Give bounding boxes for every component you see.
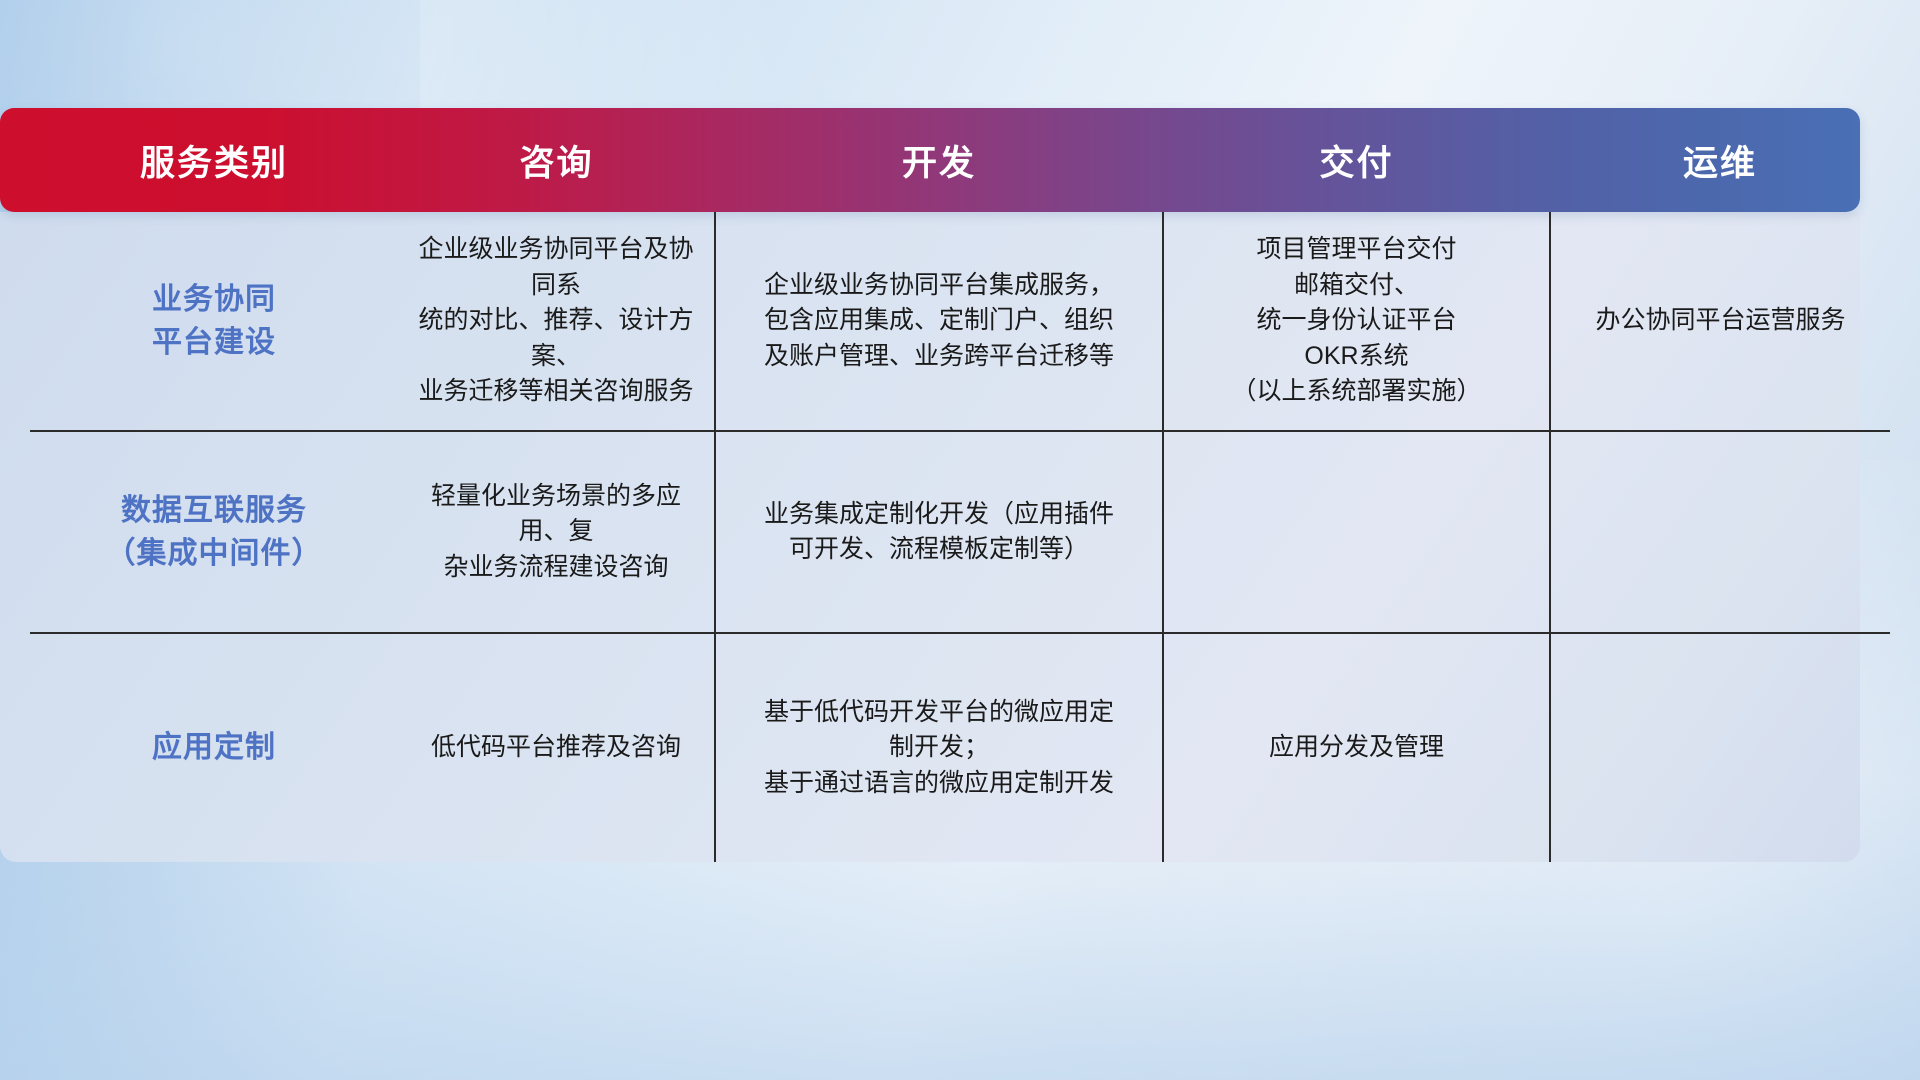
column-header-category: 服务类别 xyxy=(30,108,398,212)
cell-category: 应用定制 xyxy=(30,633,398,862)
cell-text: 轻量化业务场景的多应用、复 杂业务流程建设咨询 xyxy=(412,479,700,586)
cell-delivery: 项目管理平台交付 邮箱交付、 统一身份认证平台 OKR系统 （以上系统部署实施） xyxy=(1163,212,1550,431)
cell-text: 业务集成定制化开发（应用插件 可开发、流程模板定制等） xyxy=(730,497,1148,568)
cell-category: 数据互联服务 （集成中间件） xyxy=(30,431,398,633)
slide-canvas: 服务类别 咨询 开发 交付 运维 业务协同 平台建设 企业级业务协同平台及协同系… xyxy=(0,0,1920,1080)
table-body: 业务协同 平台建设 企业级业务协同平台及协同系 统的对比、推荐、设计方案、 业务… xyxy=(30,212,1890,862)
cell-category: 业务协同 平台建设 xyxy=(30,212,398,431)
table-row: 应用定制 低代码平台推荐及咨询 基于低代码开发平台的微应用定 制开发； 基于通过… xyxy=(30,633,1890,862)
table: 服务类别 咨询 开发 交付 运维 业务协同 平台建设 企业级业务协同平台及协同系… xyxy=(30,108,1890,862)
column-header-delivery: 交付 xyxy=(1163,108,1550,212)
cell-consulting: 企业级业务协同平台及协同系 统的对比、推荐、设计方案、 业务迁移等相关咨询服务 xyxy=(398,212,715,431)
cell-text: 应用分发及管理 xyxy=(1178,730,1535,766)
cell-operations xyxy=(1550,633,1890,862)
cell-delivery: 应用分发及管理 xyxy=(1163,633,1550,862)
table-row: 业务协同 平台建设 企业级业务协同平台及协同系 统的对比、推荐、设计方案、 业务… xyxy=(30,212,1890,431)
cell-text xyxy=(1178,532,1535,533)
cell-text: 数据互联服务 （集成中间件） xyxy=(44,489,384,576)
service-matrix-table: 服务类别 咨询 开发 交付 运维 业务协同 平台建设 企业级业务协同平台及协同系… xyxy=(30,108,1890,862)
cell-development: 业务集成定制化开发（应用插件 可开发、流程模板定制等） xyxy=(715,431,1163,633)
cell-consulting: 轻量化业务场景的多应用、复 杂业务流程建设咨询 xyxy=(398,431,715,633)
table-header-row: 服务类别 咨询 开发 交付 运维 xyxy=(30,108,1890,212)
cell-text: 办公协同平台运营服务 xyxy=(1565,303,1876,339)
cell-operations: 办公协同平台运营服务 xyxy=(1550,212,1890,431)
cell-text: 基于低代码开发平台的微应用定 制开发； 基于通过语言的微应用定制开发 xyxy=(730,695,1148,802)
cell-text xyxy=(1565,748,1876,749)
column-header-consulting: 咨询 xyxy=(398,108,715,212)
column-header-development: 开发 xyxy=(715,108,1163,212)
cell-operations xyxy=(1550,431,1890,633)
cell-text: 低代码平台推荐及咨询 xyxy=(412,730,700,766)
table-head: 服务类别 咨询 开发 交付 运维 xyxy=(30,108,1890,212)
cell-consulting: 低代码平台推荐及咨询 xyxy=(398,633,715,862)
cell-delivery xyxy=(1163,431,1550,633)
cell-development: 基于低代码开发平台的微应用定 制开发； 基于通过语言的微应用定制开发 xyxy=(715,633,1163,862)
cell-text: 项目管理平台交付 邮箱交付、 统一身份认证平台 OKR系统 （以上系统部署实施） xyxy=(1178,232,1535,410)
cell-text: 业务协同 平台建设 xyxy=(44,278,384,365)
column-header-operations: 运维 xyxy=(1550,108,1890,212)
cell-development: 企业级业务协同平台集成服务， 包含应用集成、定制门户、组织 及账户管理、业务跨平… xyxy=(715,212,1163,431)
cell-text: 应用定制 xyxy=(44,726,384,770)
cell-text: 企业级业务协同平台及协同系 统的对比、推荐、设计方案、 业务迁移等相关咨询服务 xyxy=(412,232,700,410)
table-row: 数据互联服务 （集成中间件） 轻量化业务场景的多应用、复 杂业务流程建设咨询 业… xyxy=(30,431,1890,633)
cell-text: 企业级业务协同平台集成服务， 包含应用集成、定制门户、组织 及账户管理、业务跨平… xyxy=(730,268,1148,375)
cell-text xyxy=(1565,532,1876,533)
